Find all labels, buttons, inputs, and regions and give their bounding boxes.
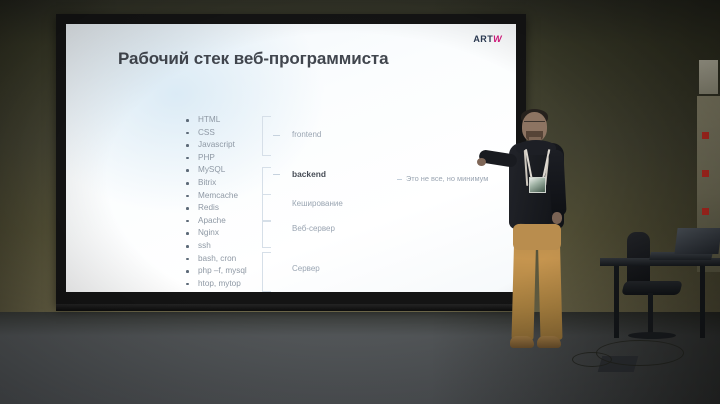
shoe-left xyxy=(510,336,534,348)
office-chair-base xyxy=(628,332,676,339)
list-item: PHP xyxy=(184,152,247,165)
connector-dash xyxy=(273,174,280,175)
group-label-caching: Кеширование xyxy=(292,199,343,208)
slide-title: Рабочий стек веб-программиста xyxy=(118,49,389,69)
speaker-pants xyxy=(513,224,561,340)
list-item: HTML xyxy=(184,114,247,127)
list-item: bash, cron xyxy=(184,253,247,266)
banner-logo-icon xyxy=(702,170,709,177)
table-leg xyxy=(614,266,619,338)
office-chair-post xyxy=(648,293,653,335)
table-leg xyxy=(700,266,705,338)
list-item: MySQL xyxy=(184,164,247,177)
connector-dash xyxy=(273,135,280,136)
speaker-hand-left xyxy=(477,158,486,166)
speaker xyxy=(489,104,599,372)
group-label-server: Сервер xyxy=(292,264,320,273)
pants-hip xyxy=(513,224,561,250)
list-item: Bitrix xyxy=(184,177,247,190)
logo-accent-text: W xyxy=(493,34,502,44)
list-item: Memcache xyxy=(184,190,247,203)
conference-badge xyxy=(529,177,546,193)
group-label-webserver: Веб-сервер xyxy=(292,224,335,233)
list-item: Nginx xyxy=(184,227,247,240)
group-brace xyxy=(262,194,271,222)
list-item: Redis xyxy=(184,202,247,215)
shoe-right xyxy=(537,336,561,348)
presentation-slide: ARTW Рабочий стек веб-программиста HTML … xyxy=(66,24,516,292)
logo-primary-text: ART xyxy=(473,34,493,44)
group-brace xyxy=(262,220,271,248)
glasses-icon xyxy=(524,121,545,126)
coiled-cable xyxy=(596,340,684,366)
tech-stack-list: HTML CSS Javascript PHP MySQL Bitrix Mem… xyxy=(184,114,247,290)
banner-top-panel xyxy=(699,60,718,94)
projection-screen-frame: ARTW Рабочий стек веб-программиста HTML … xyxy=(56,14,526,306)
banner-logo-icon xyxy=(702,132,709,139)
group-label-backend: backend xyxy=(292,169,326,179)
list-item: ssh xyxy=(184,240,247,253)
list-item: htop, mytop xyxy=(184,278,247,291)
group-brace xyxy=(262,252,271,292)
list-item: Apache xyxy=(184,215,247,228)
group-brace xyxy=(262,167,271,195)
list-item: php –f, mysql xyxy=(184,265,247,278)
list-item: Javascript xyxy=(184,139,247,152)
banner-logo-icon xyxy=(702,208,709,215)
slide-note: Это не все, но минимум xyxy=(406,174,488,183)
group-label-frontend: frontend xyxy=(292,130,321,139)
group-brace xyxy=(262,116,271,156)
list-item: CSS xyxy=(184,127,247,140)
artw-logo: ARTW xyxy=(473,34,502,44)
laptop-screen xyxy=(674,228,720,254)
presentation-photo-scene: ARTW Рабочий стек веб-программиста HTML … xyxy=(0,0,720,404)
speaker-hand-right xyxy=(552,212,562,224)
